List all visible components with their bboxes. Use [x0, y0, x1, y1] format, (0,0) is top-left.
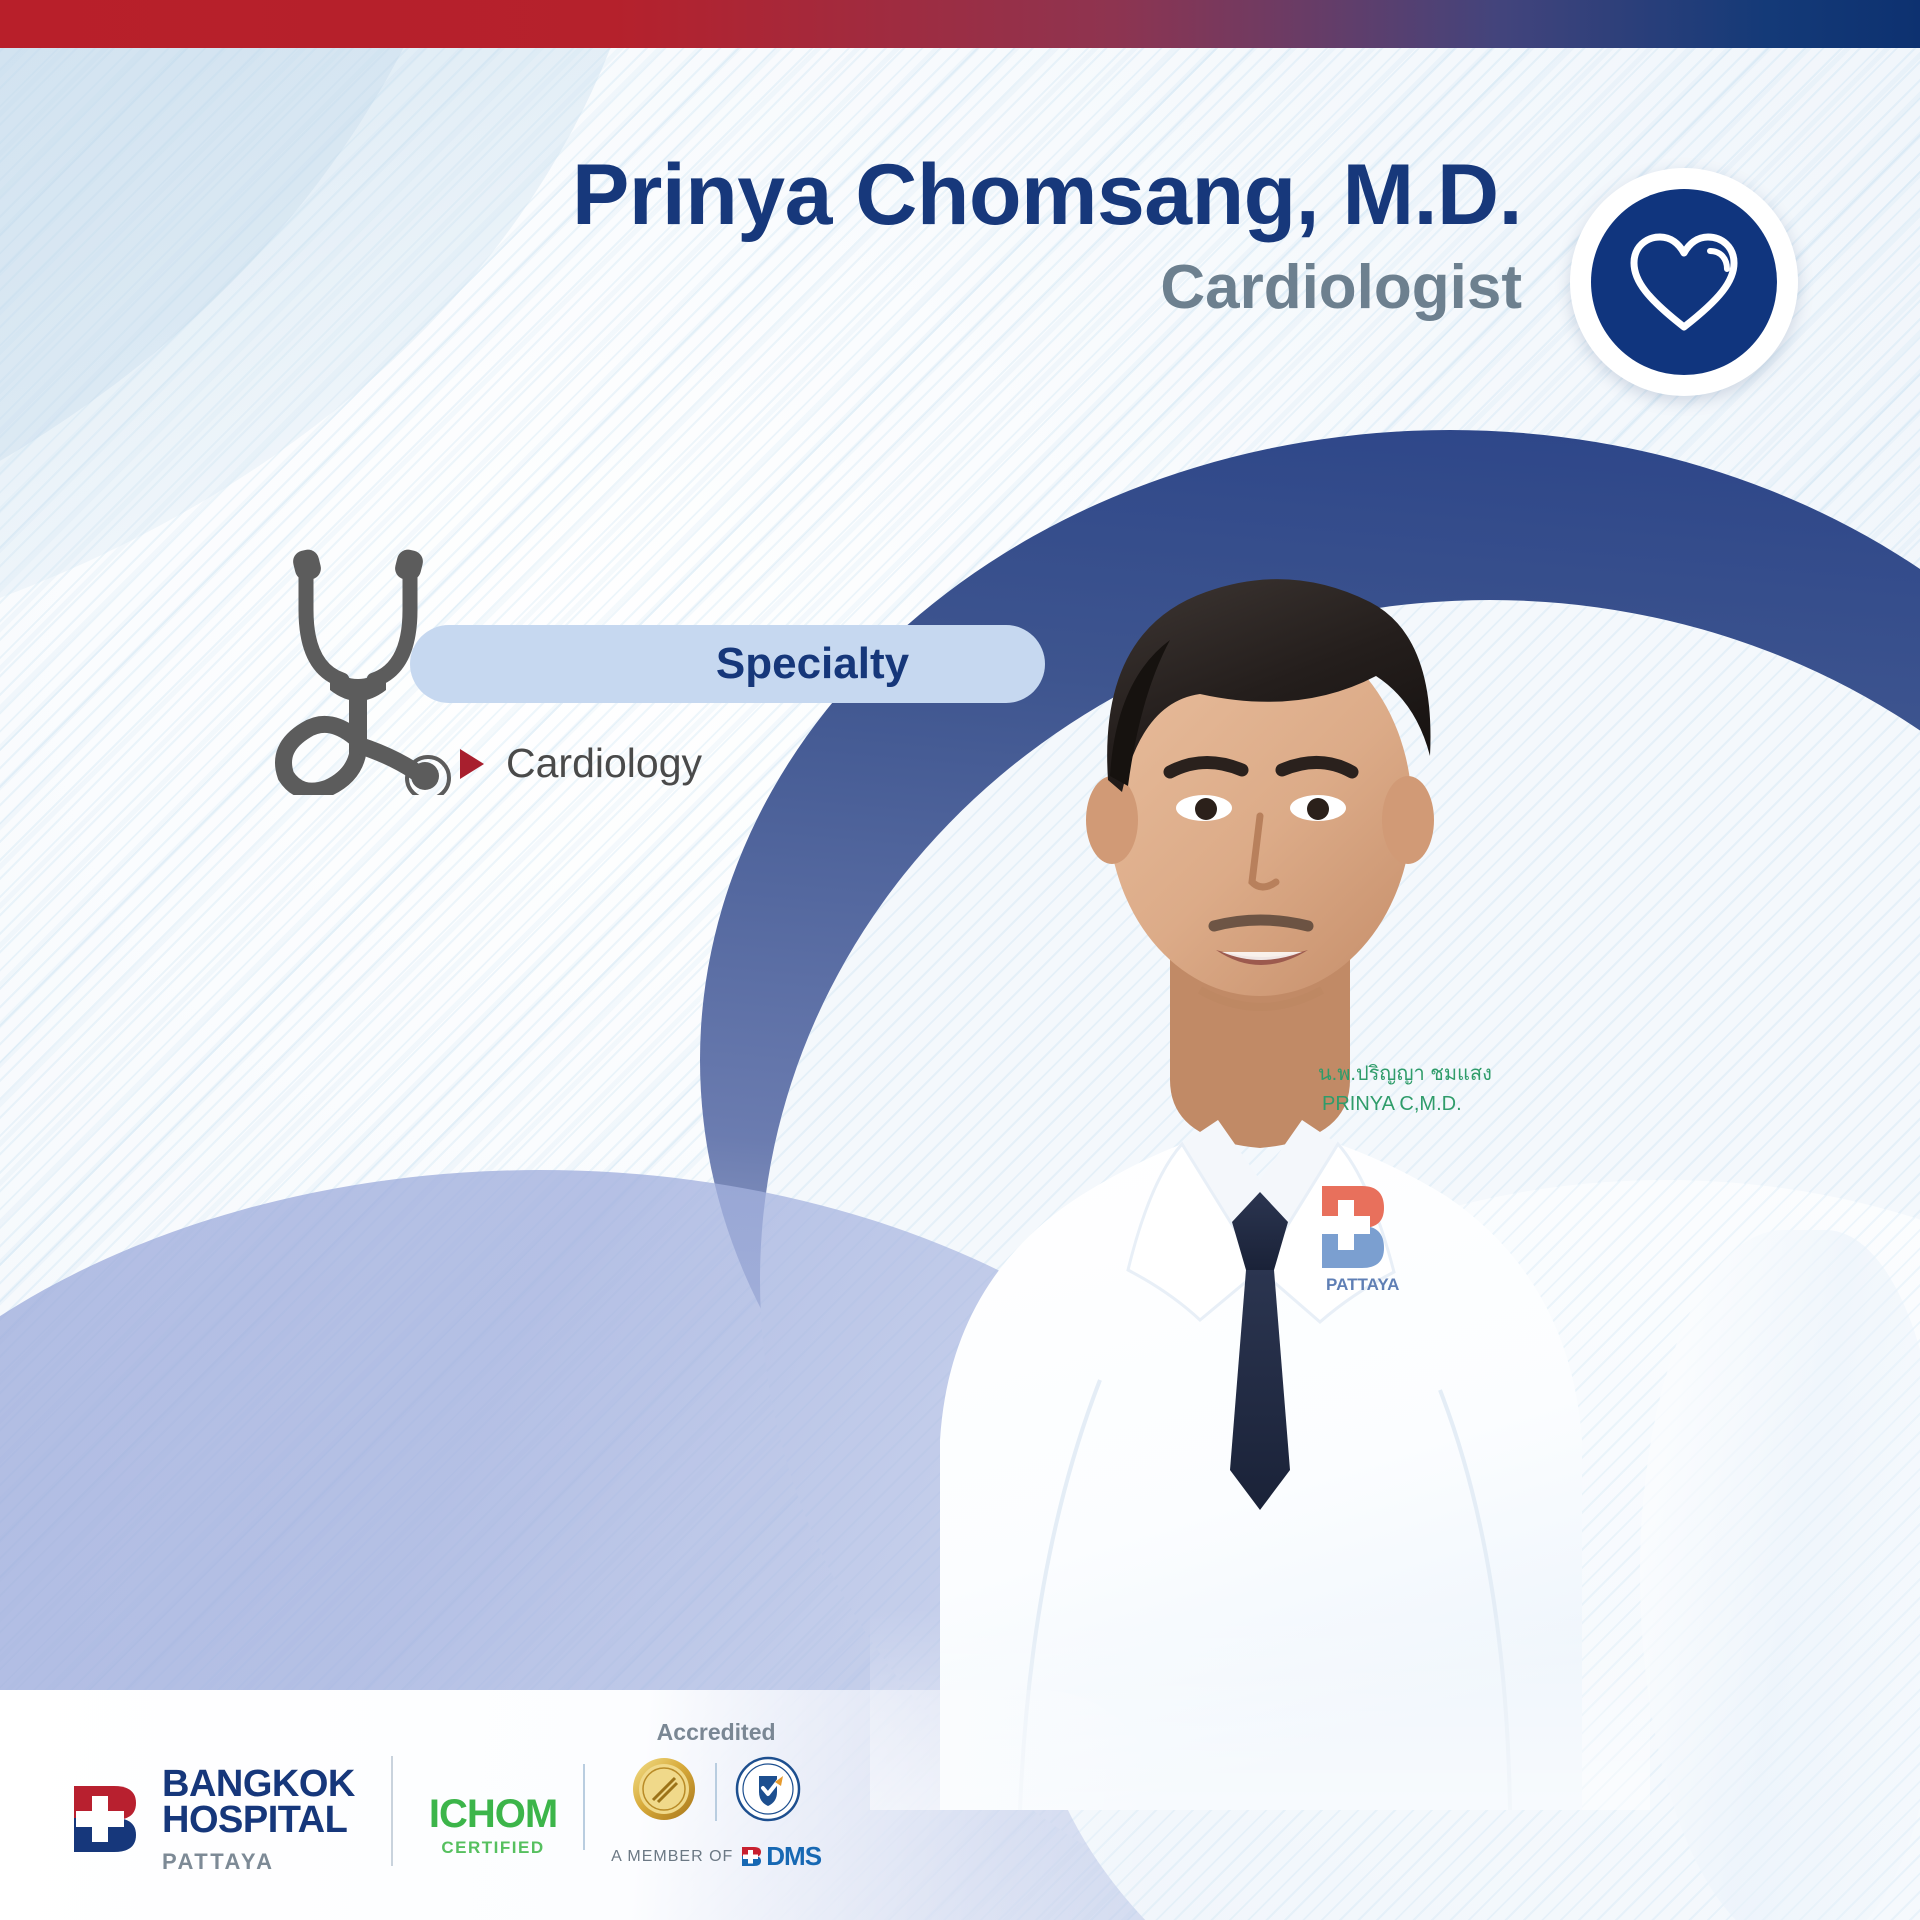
dms-member-row: A MEMBER OF DMS [611, 1841, 821, 1872]
accreditation-seals [631, 1756, 801, 1827]
footer-divider-2 [583, 1764, 585, 1850]
specialty-item-label: Cardiology [506, 740, 702, 787]
page-title: Prinya Chomsang, M.D. [0, 150, 1522, 240]
bangkok-hospital-cross-icon [70, 1782, 144, 1856]
triangle-bullet-icon [460, 749, 484, 779]
jci-gold-seal-icon [631, 1756, 697, 1827]
hospital-name-line2: HOSPITAL [162, 1802, 355, 1838]
doctor-profile-poster: Prinya Chomsang, M.D. Cardiologist [0, 0, 1920, 1920]
specialty-pill-label: Specialty [546, 639, 909, 689]
dms-wordmark: DMS [766, 1841, 821, 1872]
member-of-label: A MEMBER OF [611, 1848, 733, 1866]
stethoscope-icon [270, 540, 465, 800]
ichom-certified-logo: ICHOM CERTIFIED [429, 1794, 557, 1858]
hospital-branch: PATTAYA [162, 1851, 355, 1872]
footer-logos: BANGKOK HOSPITAL PATTAYA ICHOM CERTIFIED… [70, 1719, 821, 1872]
specialty-badge [1570, 168, 1798, 396]
bangkok-hospital-wordmark: BANGKOK HOSPITAL PATTAYA [162, 1766, 355, 1872]
ichom-wordmark: ICHOM [429, 1794, 557, 1834]
decorative-ribbon [1640, 1230, 1920, 1920]
heart-icon [1591, 189, 1777, 375]
accredited-title: Accredited [657, 1719, 776, 1746]
svg-text:PATTAYA: PATTAYA [1326, 1275, 1399, 1294]
seal-divider [715, 1763, 717, 1821]
bangkok-hospital-logo: BANGKOK HOSPITAL PATTAYA [70, 1766, 355, 1872]
dms-cross-icon [741, 1846, 763, 1868]
header: Prinya Chomsang, M.D. Cardiologist [0, 150, 1600, 322]
accreditation-group: Accredited [611, 1719, 821, 1872]
ha-thailand-seal-icon [735, 1756, 801, 1827]
coat-embroidery-thai: น.พ.ปริญญา ชมแสง [1318, 1063, 1492, 1085]
hospital-name-line1: BANGKOK [162, 1766, 355, 1802]
doctor-role: Cardiologist [0, 254, 1522, 322]
ichom-certified-label: CERTIFIED [441, 1838, 544, 1858]
specialty-list-item: Cardiology [460, 740, 702, 787]
dms-logo: DMS [741, 1841, 821, 1872]
top-gradient-bar [0, 0, 1920, 48]
footer-divider-1 [391, 1756, 393, 1866]
coat-embroidery-english: PRINYA C,M.D. [1322, 1093, 1462, 1115]
specialty-pill: Specialty [410, 625, 1045, 703]
